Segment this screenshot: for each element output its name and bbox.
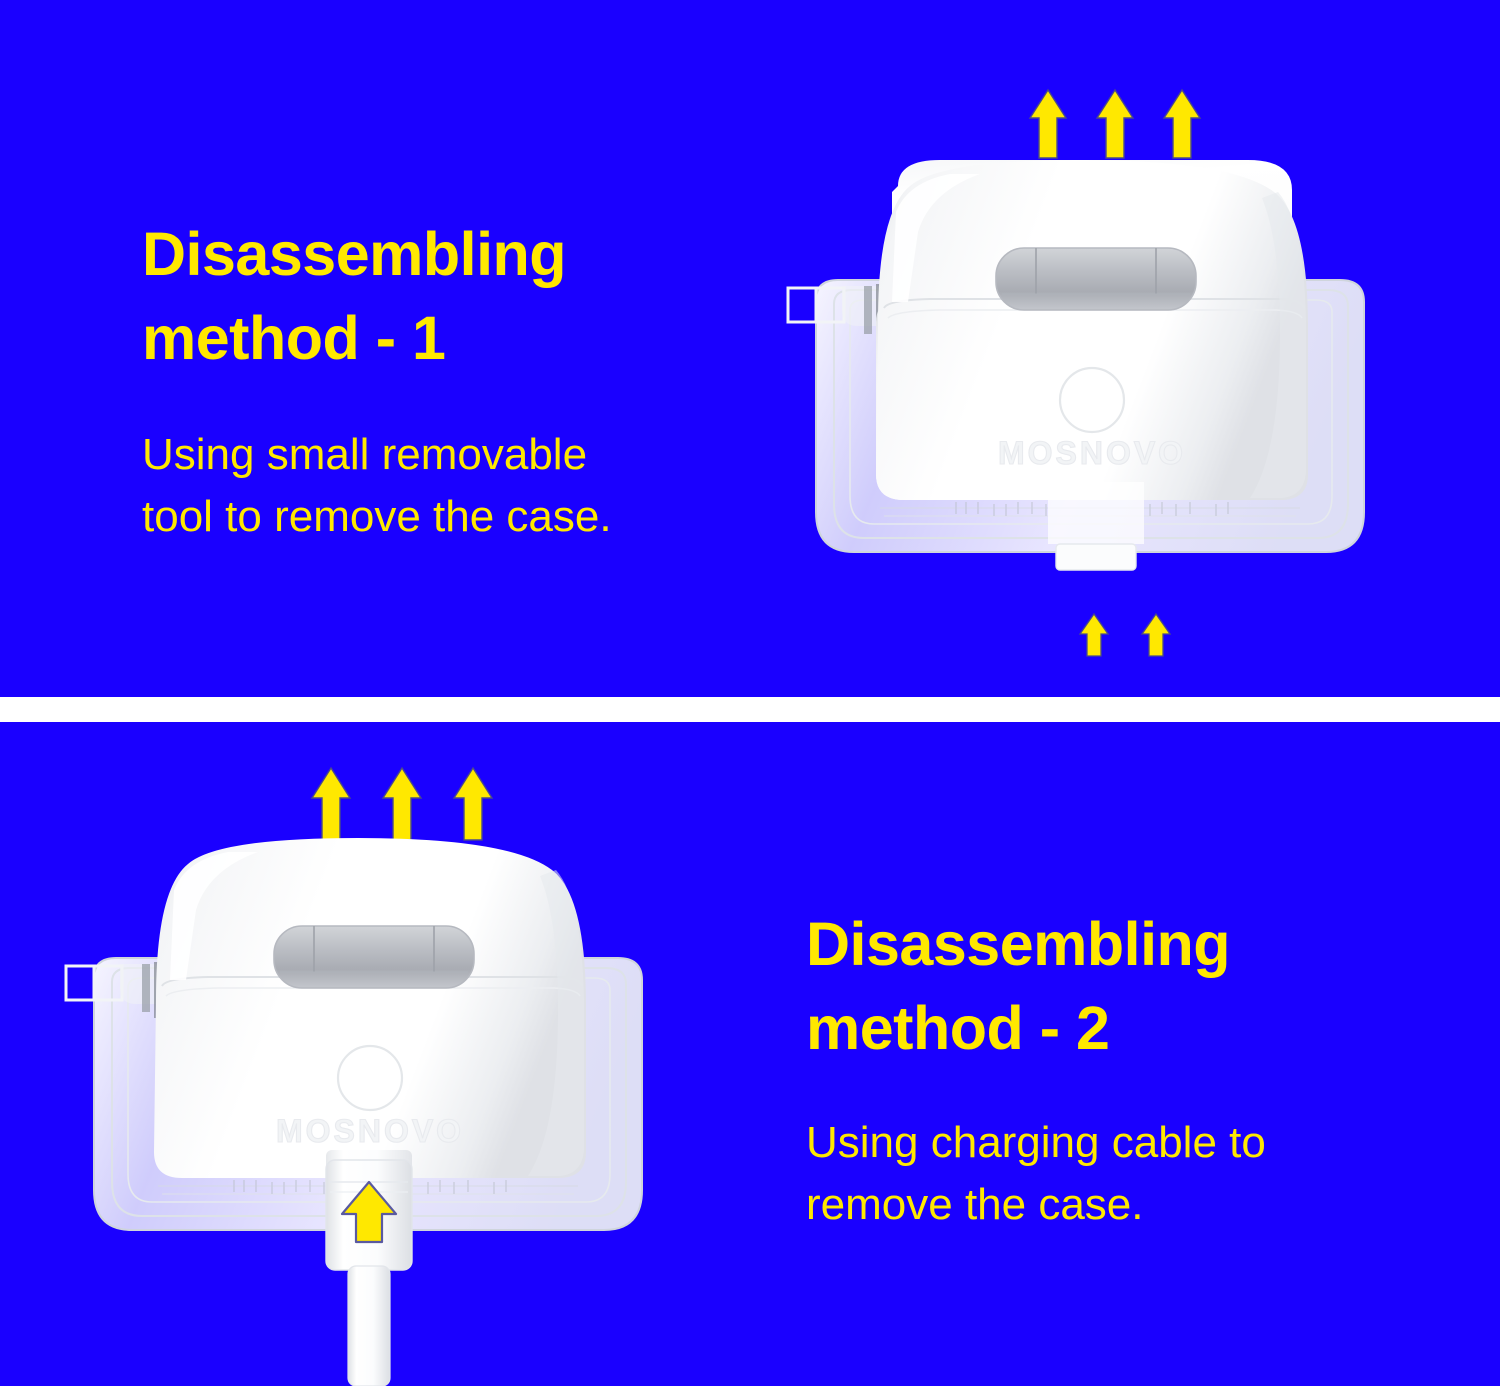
method-1-text-block: Disassembling method - 1 Using small rem… [142, 212, 782, 548]
panel-method-2: Disassembling method - 2 Using charging … [0, 722, 1500, 1386]
panel-method-1: Disassembling method - 1 Using small rem… [0, 0, 1500, 697]
hinge-strip [996, 248, 1196, 310]
infographic-page: Disassembling method - 1 Using small rem… [0, 0, 1500, 1386]
up-arrow-icon-top-1a [1028, 88, 1068, 160]
airpods-case-illustration-2: MOSNOVO [58, 830, 718, 1386]
airpods-case-illustration-1: MOSNOVO [780, 152, 1420, 592]
up-arrow-icon-bottom-1a [1078, 612, 1110, 658]
method-2-text-block: Disassembling method - 2 Using charging … [806, 902, 1426, 1236]
up-arrow-icon-top-1b [1095, 88, 1135, 160]
hinge-strip [274, 926, 474, 988]
method-2-heading: Disassembling method - 2 [806, 902, 1426, 1070]
up-arrow-icon-bottom-1b [1140, 612, 1172, 658]
charging-port-opening [1048, 482, 1144, 570]
brand-emboss-label: MOSNOVO [276, 1113, 464, 1149]
charging-cable [326, 1150, 412, 1386]
up-arrow-icon-top-1c [1162, 88, 1202, 160]
method-2-subtext: Using charging cable to remove the case. [806, 1112, 1426, 1235]
brand-emboss-label: MOSNOVO [998, 435, 1186, 471]
panel-divider [0, 697, 1500, 722]
method-1-subtext: Using small removable tool to remove the… [142, 424, 782, 547]
method-1-heading: Disassembling method - 1 [142, 212, 782, 380]
